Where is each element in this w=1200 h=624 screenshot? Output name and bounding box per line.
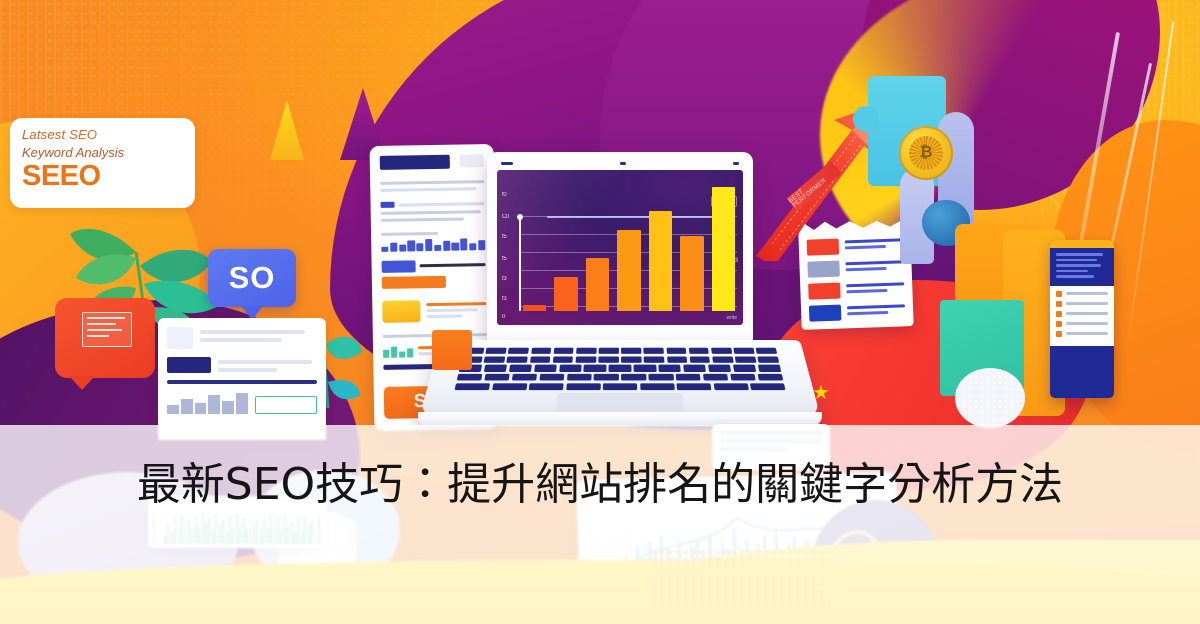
keyboard-key[interactable] xyxy=(531,348,552,354)
keyboard-key[interactable] xyxy=(509,365,532,372)
chart-ytick-0: f0 xyxy=(502,192,506,198)
swatch-row xyxy=(809,302,905,321)
keyboard-key[interactable] xyxy=(594,374,619,381)
chart-bar xyxy=(586,258,609,311)
document-header-badge xyxy=(460,154,484,167)
list-bullet-icon xyxy=(1056,331,1062,337)
keyboard-key[interactable] xyxy=(576,348,596,354)
keyboard-key[interactable] xyxy=(640,383,675,390)
keyboard-row xyxy=(455,383,786,390)
keyboard-key[interactable] xyxy=(689,348,710,354)
list-line xyxy=(1066,332,1108,335)
phone-list-item[interactable] xyxy=(1056,321,1108,327)
keyboard-key[interactable] xyxy=(730,374,756,381)
so-bubble-label: SO xyxy=(229,260,276,296)
page-title: 最新SEO技巧：提升網站排名的關鍵字分析方法 xyxy=(0,425,1200,535)
keyboard-key[interactable] xyxy=(584,365,607,372)
keyboard-key[interactable] xyxy=(750,383,786,390)
keyboard-key[interactable] xyxy=(530,356,551,362)
keyboard-key[interactable] xyxy=(621,348,641,354)
keyboard-key[interactable] xyxy=(713,383,748,390)
swatch-lines-3 xyxy=(846,282,904,296)
chart-bar xyxy=(680,236,703,311)
swatch-lines-4 xyxy=(847,304,905,318)
phone-list-item[interactable] xyxy=(1056,331,1108,337)
keyboard-key[interactable] xyxy=(735,356,756,362)
keyboard-key[interactable] xyxy=(676,374,701,381)
keyboard-key[interactable] xyxy=(553,348,574,354)
keyboard-key[interactable] xyxy=(552,356,573,362)
list-bullet-icon xyxy=(1056,311,1062,317)
phone-list-item[interactable] xyxy=(1056,291,1108,297)
swatch-red-2 xyxy=(808,283,841,300)
keyboard-key[interactable] xyxy=(758,356,780,362)
keyboard-key[interactable] xyxy=(689,356,710,362)
chart-ytick-1: C0 xyxy=(502,214,509,220)
keyboard-key[interactable] xyxy=(703,374,729,381)
so-speech-bubble: SO xyxy=(208,249,296,307)
banner-image: Latsest SEO Keyword Analysis SEEO xyxy=(0,0,1200,624)
list-line xyxy=(1066,312,1108,315)
chart-bar xyxy=(649,211,672,311)
laptop-window-controls xyxy=(497,162,743,170)
keyboard-key[interactable] xyxy=(566,383,601,390)
keyboard-key[interactable] xyxy=(733,365,756,372)
list-bullet-icon xyxy=(1056,301,1062,307)
keyboard-key[interactable] xyxy=(559,365,582,372)
mini-bar-chart xyxy=(167,392,248,414)
swatch-row xyxy=(807,258,903,277)
swatch-lines-1 xyxy=(845,238,903,252)
list-bullet-icon xyxy=(1056,291,1062,297)
keyboard-key[interactable] xyxy=(484,356,505,362)
laptop-base xyxy=(420,340,820,415)
seo-card-line-1: Latsest SEO xyxy=(22,127,185,142)
keyboard-key[interactable] xyxy=(455,383,491,390)
keyboard-key[interactable] xyxy=(648,374,673,381)
keyboard-key[interactable] xyxy=(508,348,529,354)
star-icon: ★ xyxy=(812,380,830,405)
phone-header-lines xyxy=(1050,248,1114,286)
swatch-row xyxy=(808,280,904,299)
keyboard-key[interactable] xyxy=(485,348,506,354)
keyboard-key[interactable] xyxy=(676,383,711,390)
orange-sticky-note xyxy=(432,330,472,370)
red-speech-bubble xyxy=(55,298,155,378)
coin-badge-icon: ₿ xyxy=(899,126,953,180)
keyboard-key[interactable] xyxy=(539,374,564,381)
keyboard-key[interactable] xyxy=(529,383,564,390)
keyboard-key[interactable] xyxy=(609,365,631,372)
seo-keyword-card: Latsest SEO Keyword Analysis SEEO xyxy=(10,118,195,208)
list-line xyxy=(1066,302,1108,305)
keyboard-key[interactable] xyxy=(733,348,754,354)
seo-card-line-2: Keyword Analysis xyxy=(22,145,185,160)
list-bullet-icon xyxy=(1056,321,1062,327)
chart-ytick-2: f5 xyxy=(502,234,506,240)
document-header-bar xyxy=(380,155,450,170)
keyboard-key[interactable] xyxy=(666,348,687,354)
chart-bar xyxy=(617,230,640,311)
keyboard-key[interactable] xyxy=(756,348,777,354)
keyboard-key[interactable] xyxy=(507,356,528,362)
phone-mockup xyxy=(1050,240,1114,398)
keyboard-key[interactable] xyxy=(683,365,706,372)
keyboard-row xyxy=(457,374,784,381)
keyboard-key[interactable] xyxy=(457,374,483,381)
keyboard-key[interactable] xyxy=(598,356,618,362)
chart-bar xyxy=(523,305,546,311)
keyboard-key[interactable] xyxy=(599,348,619,354)
swatch-lavender xyxy=(807,261,840,278)
chart-ytick-4: f3 xyxy=(502,276,506,282)
chart-y-axis xyxy=(519,216,521,311)
phone-list-item[interactable] xyxy=(1056,311,1108,317)
keyboard-key[interactable] xyxy=(621,374,646,381)
mini-window-graphic xyxy=(82,312,132,347)
dotted-sphere xyxy=(955,368,1025,428)
keyboard-key[interactable] xyxy=(712,356,733,362)
keyboard-row xyxy=(461,356,779,362)
keyboard-key[interactable] xyxy=(658,365,681,372)
seo-card-headline: SEEO xyxy=(22,162,185,191)
keyboard-key[interactable] xyxy=(758,365,782,372)
phone-list-item[interactable] xyxy=(1056,301,1108,307)
keyboard-key[interactable] xyxy=(667,356,688,362)
keyboard-key[interactable] xyxy=(634,365,657,372)
color-swatch-card xyxy=(798,228,913,330)
keyboard-key[interactable] xyxy=(603,383,637,390)
phone-top-band xyxy=(1050,240,1114,248)
keyboard-key[interactable] xyxy=(644,348,664,354)
keyboard-row xyxy=(463,348,777,354)
swatch-blue xyxy=(809,305,842,322)
keyboard-key[interactable] xyxy=(512,374,538,381)
chart-ytick-5: f3 xyxy=(502,296,506,302)
dashboard-thumb xyxy=(167,327,193,349)
laptop-keyboard[interactable] xyxy=(455,348,786,390)
laptop-screen: f0 C0 f5 f5 f3 f3 0 /83 write xyxy=(487,152,753,344)
keyboard-key[interactable] xyxy=(644,356,665,362)
keyboard-key[interactable] xyxy=(575,356,596,362)
keyboard-key[interactable] xyxy=(708,365,731,372)
keyboard-key[interactable] xyxy=(484,365,507,372)
phone-list xyxy=(1050,286,1114,346)
swatch-lines-2 xyxy=(845,260,903,274)
list-line xyxy=(1066,292,1108,295)
swatch-row xyxy=(807,236,903,255)
laptop-chart-display: f0 C0 f5 f5 f3 f3 0 /83 write xyxy=(497,170,743,325)
keyboard-row xyxy=(459,365,781,372)
chart-bottom-annotation: write xyxy=(726,315,737,321)
chart-bar xyxy=(712,187,735,311)
chart-bar xyxy=(554,277,577,311)
laptop-trackpad[interactable] xyxy=(556,393,684,411)
document-sparkline xyxy=(381,238,485,252)
keyboard-key[interactable] xyxy=(621,356,641,362)
keyboard-key[interactable] xyxy=(484,374,510,381)
keyboard-key[interactable] xyxy=(492,383,527,390)
swatch-red-1 xyxy=(807,239,840,256)
keyboard-key[interactable] xyxy=(711,348,732,354)
coin-symbol: ₿ xyxy=(919,144,932,162)
chart-ytick-3: f5 xyxy=(502,256,506,262)
keyboard-key[interactable] xyxy=(757,374,783,381)
chart-ytick-6: 0 xyxy=(502,314,505,320)
coin-inner: ₿ xyxy=(909,136,943,170)
keyboard-key[interactable] xyxy=(534,365,557,372)
keyboard-key[interactable] xyxy=(566,374,591,381)
list-line xyxy=(1066,322,1108,325)
chart-bars xyxy=(523,183,735,311)
left-dashboard-card xyxy=(158,318,326,440)
